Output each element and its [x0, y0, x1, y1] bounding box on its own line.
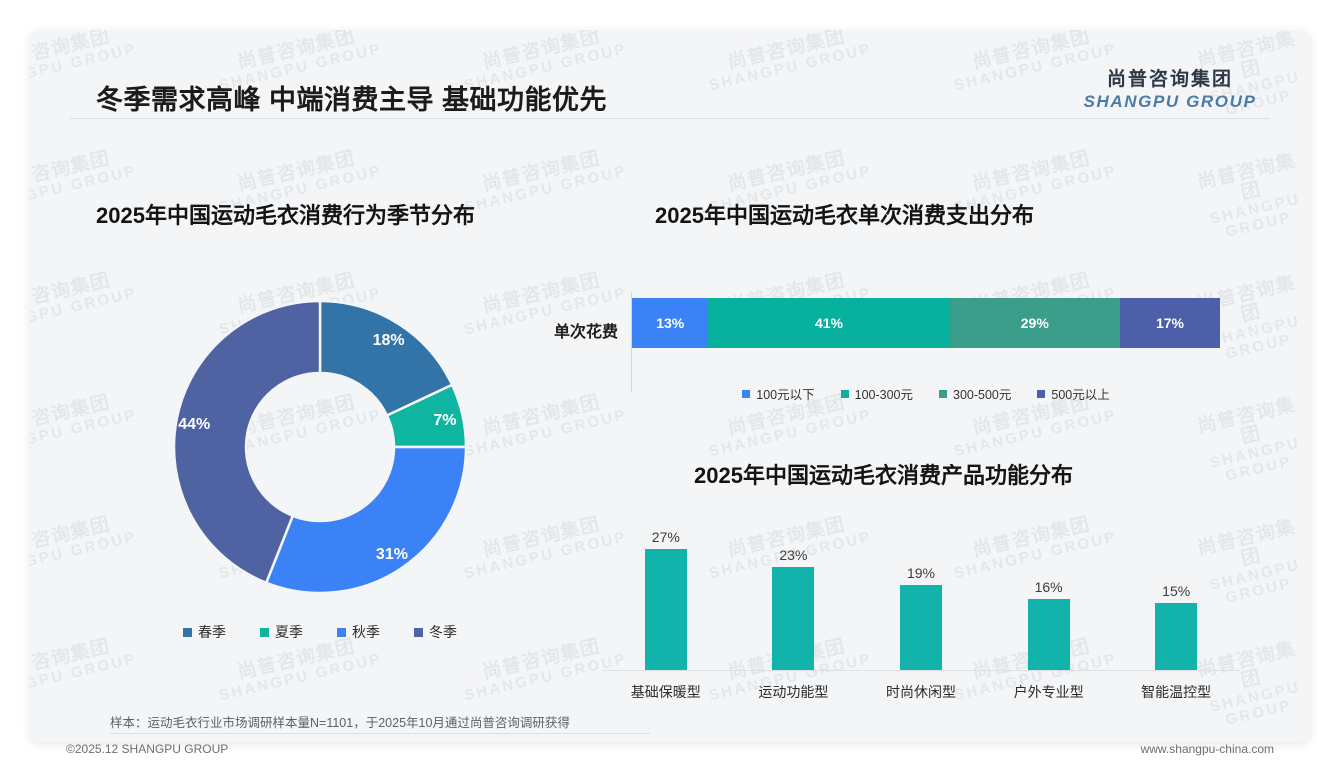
bar-rect[interactable] [900, 585, 942, 670]
donut-slice-value-label: 7% [433, 412, 456, 429]
bar-category-label: 运动功能型 [738, 682, 848, 702]
legend-item[interactable]: 100-300元 [841, 384, 913, 403]
legend-swatch-icon [260, 628, 269, 637]
stacked-bar-segment[interactable]: 17% [1120, 298, 1220, 348]
legend-label: 冬季 [429, 622, 457, 642]
donut-chart: 18%7%31%44% [140, 292, 500, 612]
donut-chart-svg: 18%7%31%44% [140, 292, 500, 612]
stacked-bar-chart: 单次花费 13%41%29%17% 100元以下100-300元300-500元… [530, 288, 1230, 398]
legend-swatch-icon [939, 390, 947, 398]
bar-category-label: 基础保暖型 [611, 682, 721, 702]
donut-slice-value-label: 31% [376, 546, 408, 563]
bar-rect[interactable] [645, 549, 687, 670]
stacked-bar-track: 13%41%29%17% [632, 298, 1220, 348]
legend-item[interactable]: 春季 [183, 622, 226, 642]
bar-column[interactable]: 15% [1121, 510, 1231, 670]
legend-swatch-icon [742, 390, 750, 398]
bar-category-label: 户外专业型 [994, 682, 1104, 702]
source-footnote: 样本：运动毛衣行业市场调研样本量N=1101，于2025年10月通过尚普咨询调研… [110, 712, 570, 731]
bar-column[interactable]: 19% [866, 510, 976, 670]
stacked-bar-legend: 100元以下100-300元300-500元500元以上 [632, 384, 1220, 403]
header-divider [70, 118, 1270, 119]
legend-swatch-icon [414, 628, 423, 637]
stacked-bar-title: 2025年中国运动毛衣单次消费支出分布 [655, 198, 1034, 230]
watermark-tile: 尚普咨询集团SHANGPU GROUP [213, 632, 383, 704]
stacked-bar-segment-label: 29% [1021, 315, 1049, 331]
legend-swatch-icon [337, 628, 346, 637]
watermark-tile: 尚普咨询集团SHANGPU GROUP [458, 144, 628, 216]
legend-label: 夏季 [275, 622, 303, 642]
legend-item[interactable]: 夏季 [260, 622, 303, 642]
slide-header: 冬季需求高峰 中端消费主导 基础功能优先 尚普咨询集团 SHANGPU GROU… [30, 30, 1310, 122]
slide-footer: ©2025.12 SHANGPU GROUP www.shangpu-china… [30, 742, 1310, 772]
legend-label: 秋季 [352, 622, 380, 642]
donut-slice-value-label: 44% [178, 416, 210, 433]
footnote-divider [110, 733, 650, 734]
donut-slice-value-label: 18% [373, 332, 405, 349]
bar-value-label: 19% [907, 565, 935, 581]
bar-value-label: 23% [779, 547, 807, 563]
stacked-bar-segment-label: 41% [815, 315, 843, 331]
legend-item[interactable]: 300-500元 [939, 384, 1011, 403]
bar-chart-plot: 27%23%19%16%15% [602, 510, 1240, 670]
page-title: 冬季需求高峰 中端消费主导 基础功能优先 [96, 78, 607, 117]
donut-slice[interactable] [266, 447, 466, 593]
footer-copyright: ©2025.12 SHANGPU GROUP [66, 742, 228, 756]
legend-item[interactable]: 500元以上 [1037, 384, 1109, 403]
bar-chart: 27%23%19%16%15% 基础保暖型运动功能型时尚休闲型户外专业型智能温控… [602, 510, 1240, 705]
logo-chinese-text: 尚普咨询集团 [1070, 64, 1270, 91]
legend-label: 300-500元 [953, 384, 1011, 403]
watermark-tile: 尚普咨询集团SHANGPU GROUP [1188, 394, 1310, 489]
bar-rect[interactable] [1028, 599, 1070, 670]
bar-category-label: 智能温控型 [1121, 682, 1231, 702]
watermark-tile: 尚普咨询集团SHANGPU GROUP [30, 510, 139, 582]
logo-english-text: SHANGPU GROUP [1070, 92, 1270, 112]
watermark-tile: 尚普咨询集团SHANGPU GROUP [1188, 150, 1310, 245]
legend-swatch-icon [1037, 390, 1045, 398]
watermark-tile: 尚普咨询集团SHANGPU GROUP [30, 388, 139, 460]
bar-chart-axis-line [602, 670, 1240, 671]
watermark-tile: 尚普咨询集团SHANGPU GROUP [30, 632, 139, 704]
bar-column[interactable]: 16% [994, 510, 1104, 670]
donut-chart-legend: 春季夏季秋季冬季 [140, 622, 500, 642]
legend-label: 500元以上 [1051, 384, 1109, 403]
legend-item[interactable]: 冬季 [414, 622, 457, 642]
stacked-bar-segment-label: 13% [656, 315, 684, 331]
bar-rect[interactable] [772, 567, 814, 670]
bar-value-label: 16% [1035, 579, 1063, 595]
bar-column[interactable]: 23% [738, 510, 848, 670]
legend-swatch-icon [841, 390, 849, 398]
slide-canvas: 尚普咨询集团SHANGPU GROUP尚普咨询集团SHANGPU GROUP尚普… [30, 30, 1310, 742]
bar-value-label: 15% [1162, 583, 1190, 599]
bar-rect[interactable] [1155, 603, 1197, 670]
legend-swatch-icon [183, 628, 192, 637]
watermark-tile: 尚普咨询集团SHANGPU GROUP [30, 266, 139, 338]
footer-website: www.shangpu-china.com [1141, 742, 1274, 756]
bar-column[interactable]: 27% [611, 510, 721, 670]
legend-item[interactable]: 100元以下 [742, 384, 814, 403]
legend-label: 100-300元 [855, 384, 913, 403]
legend-item[interactable]: 秋季 [337, 622, 380, 642]
stacked-bar-row-label: 单次花费 [530, 318, 618, 342]
stacked-bar-segment-label: 17% [1156, 315, 1184, 331]
bar-chart-title: 2025年中国运动毛衣消费产品功能分布 [694, 458, 1073, 490]
bar-chart-category-labels: 基础保暖型运动功能型时尚休闲型户外专业型智能温控型 [602, 682, 1240, 702]
stacked-bar-segment[interactable]: 13% [632, 298, 708, 348]
bar-category-label: 时尚休闲型 [866, 682, 976, 702]
stacked-bar-segment[interactable]: 29% [950, 298, 1121, 348]
legend-label: 春季 [198, 622, 226, 642]
stacked-bar-segment[interactable]: 41% [708, 298, 949, 348]
legend-label: 100元以下 [756, 384, 814, 403]
brand-logo: 尚普咨询集团 SHANGPU GROUP [1070, 64, 1270, 112]
donut-chart-title: 2025年中国运动毛衣消费行为季节分布 [96, 198, 475, 230]
bar-value-label: 27% [652, 529, 680, 545]
